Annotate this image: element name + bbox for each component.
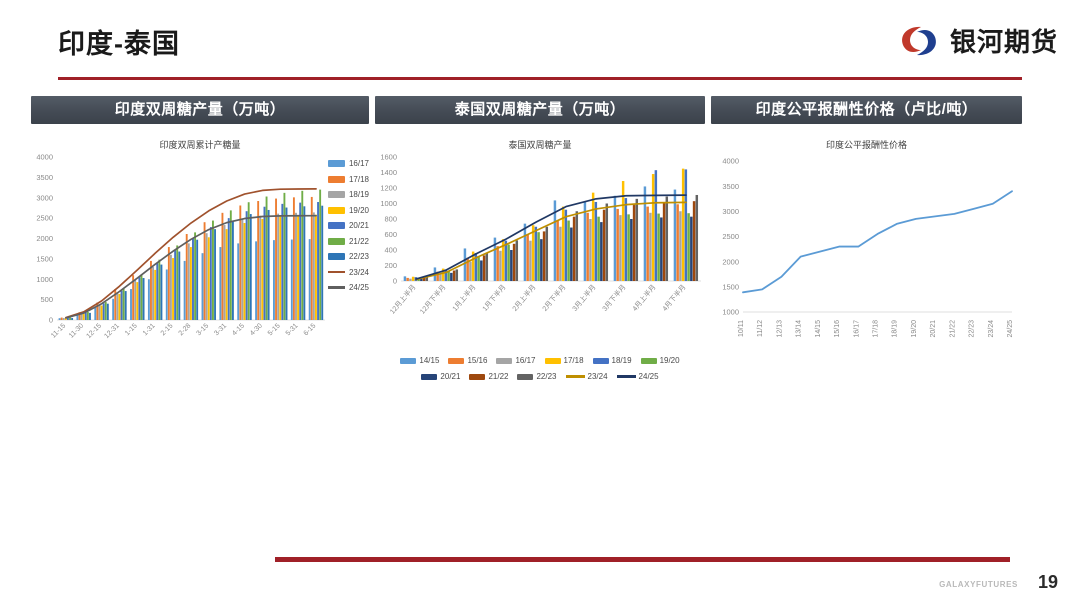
- legend-swatch: [593, 358, 609, 364]
- svg-text:10/11: 10/11: [738, 320, 745, 337]
- legend-item-19-20[interactable]: 19/20: [641, 356, 680, 365]
- svg-text:2000: 2000: [36, 234, 53, 243]
- title-divider: [58, 77, 1022, 80]
- svg-text:1600: 1600: [380, 153, 397, 162]
- chart-title-2: 泰国双周糖产量: [375, 138, 705, 151]
- svg-text:16/17: 16/17: [853, 320, 860, 338]
- chart-2-legend: 14/1515/1616/1717/1818/1919/2020/2121/22…: [375, 356, 705, 381]
- svg-text:4000: 4000: [722, 157, 739, 166]
- footer-divider: [275, 557, 1010, 562]
- legend-label: 18/19: [349, 190, 369, 199]
- svg-text:1500: 1500: [722, 282, 739, 291]
- svg-text:3-15: 3-15: [195, 322, 210, 337]
- chart-3-plot: 100015002000250030003500400010/1111/1212…: [711, 151, 1022, 371]
- svg-text:3000: 3000: [36, 193, 53, 202]
- svg-text:12月上半月: 12月上半月: [388, 283, 418, 316]
- legend-item-17-18[interactable]: 17/18: [545, 356, 584, 365]
- chart-title-3: 印度公平报酬性价格: [711, 138, 1022, 151]
- svg-text:5-15: 5-15: [267, 322, 282, 337]
- legend-label: 17/18: [564, 356, 584, 365]
- legend-swatch: [421, 374, 437, 380]
- svg-text:1000: 1000: [380, 199, 397, 208]
- svg-text:4000: 4000: [36, 153, 53, 162]
- legend-label: 23/24: [588, 372, 608, 381]
- page-title: 印度-泰国: [58, 22, 180, 61]
- svg-text:12/13: 12/13: [776, 320, 783, 338]
- legend-item-23-24[interactable]: 23/24: [328, 268, 369, 277]
- panel-india-frp-price: 印度公平报酬性价格（卢比/吨） 印度公平报酬性价格 10001500200025…: [711, 96, 1022, 371]
- legend-item-20-21[interactable]: 20/21: [421, 372, 460, 381]
- svg-text:1-31: 1-31: [142, 322, 157, 337]
- legend-label: 22/23: [536, 372, 556, 381]
- svg-text:2500: 2500: [36, 214, 53, 223]
- legend-row: 20/2121/2222/2323/2424/25: [421, 372, 658, 381]
- legend-label: 24/25: [349, 283, 369, 292]
- legend-item-24-25[interactable]: 24/25: [617, 372, 659, 381]
- panel-header-3: 印度公平报酬性价格（卢比/吨）: [711, 96, 1022, 124]
- legend-item-19-20[interactable]: 19/20: [328, 206, 369, 215]
- svg-text:5-31: 5-31: [285, 322, 300, 337]
- svg-text:1400: 1400: [380, 168, 397, 177]
- legend-swatch: [328, 271, 345, 274]
- svg-text:200: 200: [384, 261, 397, 270]
- legend-label: 14/15: [419, 356, 439, 365]
- svg-text:2500: 2500: [722, 232, 739, 241]
- svg-text:24/25: 24/25: [1007, 320, 1014, 338]
- legend-swatch: [617, 375, 636, 378]
- legend-label: 24/25: [639, 372, 659, 381]
- chart-2-plot: 0200400600800100012001400160012月上半月12月下半…: [375, 151, 705, 381]
- svg-text:1月上半月: 1月上半月: [450, 283, 477, 313]
- svg-text:4月上半月: 4月上半月: [630, 283, 657, 313]
- svg-text:17/18: 17/18: [873, 320, 880, 338]
- svg-text:600: 600: [384, 230, 397, 239]
- legend-label: 16/17: [349, 159, 369, 168]
- svg-text:3500: 3500: [36, 173, 53, 182]
- page-number: 19: [1038, 572, 1058, 593]
- svg-text:2月下半月: 2月下半月: [540, 283, 567, 313]
- legend-label: 23/24: [349, 268, 369, 277]
- panel-thailand-fortnightly-sugar: 泰国双周糖产量（万吨） 泰国双周糖产量 02004006008001000120…: [375, 96, 705, 381]
- svg-text:1000: 1000: [722, 308, 739, 317]
- svg-text:2-28: 2-28: [178, 322, 193, 337]
- svg-text:12-15: 12-15: [85, 322, 103, 340]
- panel-header-1: 印度双周糖产量（万吨）: [31, 96, 369, 124]
- legend-label: 21/22: [349, 237, 369, 246]
- legend-label: 20/21: [349, 221, 369, 230]
- svg-text:4-30: 4-30: [249, 322, 264, 337]
- svg-text:12月下半月: 12月下半月: [418, 283, 448, 316]
- panel-header-2: 泰国双周糖产量（万吨）: [375, 96, 705, 124]
- svg-text:4月下半月: 4月下半月: [660, 283, 687, 313]
- svg-text:1000: 1000: [36, 275, 53, 284]
- svg-text:3月下半月: 3月下半月: [600, 283, 627, 313]
- legend-label: 16/17: [515, 356, 535, 365]
- legend-swatch: [496, 358, 512, 364]
- legend-label: 17/18: [349, 175, 369, 184]
- svg-text:3000: 3000: [722, 207, 739, 216]
- chart-2-svg: 0200400600800100012001400160012月上半月12月下半…: [375, 151, 705, 343]
- legend-label: 19/20: [660, 356, 680, 365]
- legend-item-22-23[interactable]: 22/23: [328, 252, 369, 261]
- chart-1-svg: 0500100015002000250030003500400011-1511-…: [31, 151, 331, 366]
- legend-item-22-23[interactable]: 22/23: [517, 372, 556, 381]
- svg-text:18/19: 18/19: [892, 320, 899, 338]
- svg-text:1月下半月: 1月下半月: [480, 283, 507, 313]
- legend-swatch: [328, 191, 345, 198]
- svg-text:15/16: 15/16: [834, 320, 841, 338]
- svg-text:2000: 2000: [722, 257, 739, 266]
- legend-item-18-19[interactable]: 18/19: [593, 356, 632, 365]
- chart-3-svg: 100015002000250030003500400010/1111/1212…: [711, 151, 1022, 366]
- chart-1-plot: 0500100015002000250030003500400011-1511-…: [31, 151, 369, 371]
- svg-text:2月上半月: 2月上半月: [510, 283, 537, 313]
- chart-1-legend: 16/1717/1818/1919/2020/2121/2222/2323/24…: [328, 159, 369, 292]
- svg-text:3-31: 3-31: [213, 322, 228, 337]
- legend-item-16-17[interactable]: 16/17: [496, 356, 535, 365]
- svg-text:1-15: 1-15: [124, 322, 139, 337]
- svg-text:3500: 3500: [722, 182, 739, 191]
- legend-item-21-22[interactable]: 21/22: [328, 237, 369, 246]
- svg-text:12-31: 12-31: [103, 322, 121, 340]
- galaxy-swirl-icon: [897, 24, 941, 58]
- svg-text:800: 800: [384, 215, 397, 224]
- legend-item-16-17[interactable]: 16/17: [328, 159, 369, 168]
- legend-swatch: [328, 176, 345, 183]
- legend-swatch: [328, 160, 345, 167]
- svg-text:400: 400: [384, 246, 397, 255]
- svg-text:2-15: 2-15: [160, 322, 175, 337]
- svg-text:22/23: 22/23: [969, 320, 976, 338]
- legend-item-24-25[interactable]: 24/25: [328, 283, 369, 292]
- svg-text:20/21: 20/21: [930, 320, 937, 338]
- legend-swatch: [566, 375, 585, 378]
- legend-swatch: [328, 238, 345, 245]
- legend-swatch: [517, 374, 533, 380]
- legend-item-18-19[interactable]: 18/19: [328, 190, 369, 199]
- legend-item-17-18[interactable]: 17/18: [328, 175, 369, 184]
- footer-brand: GALAXYFUTURES: [939, 580, 1018, 589]
- svg-text:6-15: 6-15: [303, 322, 318, 337]
- legend-swatch: [328, 253, 345, 260]
- svg-text:11-30: 11-30: [68, 322, 85, 339]
- svg-text:4-15: 4-15: [231, 322, 246, 337]
- svg-text:1500: 1500: [36, 254, 53, 263]
- svg-text:3月上半月: 3月上半月: [570, 283, 597, 313]
- svg-text:13/14: 13/14: [796, 320, 803, 338]
- svg-text:1200: 1200: [380, 184, 397, 193]
- svg-text:14/15: 14/15: [815, 320, 822, 338]
- legend-label: 21/22: [488, 372, 508, 381]
- legend-label: 19/20: [349, 206, 369, 215]
- legend-swatch: [545, 358, 561, 364]
- legend-swatch: [469, 374, 485, 380]
- legend-label: 15/16: [467, 356, 487, 365]
- chart-title-1: 印度双周累计产糖量: [31, 138, 369, 151]
- svg-text:0: 0: [49, 316, 53, 325]
- brand-logo: 银河期货: [897, 22, 1058, 59]
- panel-india-fortnightly-sugar: 印度双周糖产量（万吨） 印度双周累计产糖量 050010001500200025…: [31, 96, 369, 371]
- legend-label: 20/21: [440, 372, 460, 381]
- legend-swatch: [328, 286, 345, 289]
- legend-swatch: [641, 358, 657, 364]
- svg-text:500: 500: [40, 295, 53, 304]
- logo-text: 银河期货: [950, 22, 1058, 59]
- legend-row: 14/1515/1616/1717/1818/1919/20: [400, 356, 679, 365]
- svg-text:21/22: 21/22: [949, 320, 956, 338]
- legend-item-15-16[interactable]: 15/16: [448, 356, 487, 365]
- legend-item-20-21[interactable]: 20/21: [328, 221, 369, 230]
- svg-text:23/24: 23/24: [988, 320, 995, 338]
- legend-swatch: [448, 358, 464, 364]
- svg-text:0: 0: [393, 277, 397, 286]
- legend-swatch: [400, 358, 416, 364]
- svg-text:11/12: 11/12: [757, 320, 764, 337]
- legend-item-23-24[interactable]: 23/24: [566, 372, 608, 381]
- legend-item-14-15[interactable]: 14/15: [400, 356, 439, 365]
- legend-item-21-22[interactable]: 21/22: [469, 372, 508, 381]
- legend-swatch: [328, 222, 345, 229]
- svg-text:19/20: 19/20: [911, 320, 918, 338]
- legend-swatch: [328, 207, 345, 214]
- legend-label: 22/23: [349, 252, 369, 261]
- legend-label: 18/19: [612, 356, 632, 365]
- svg-text:11-15: 11-15: [50, 322, 67, 339]
